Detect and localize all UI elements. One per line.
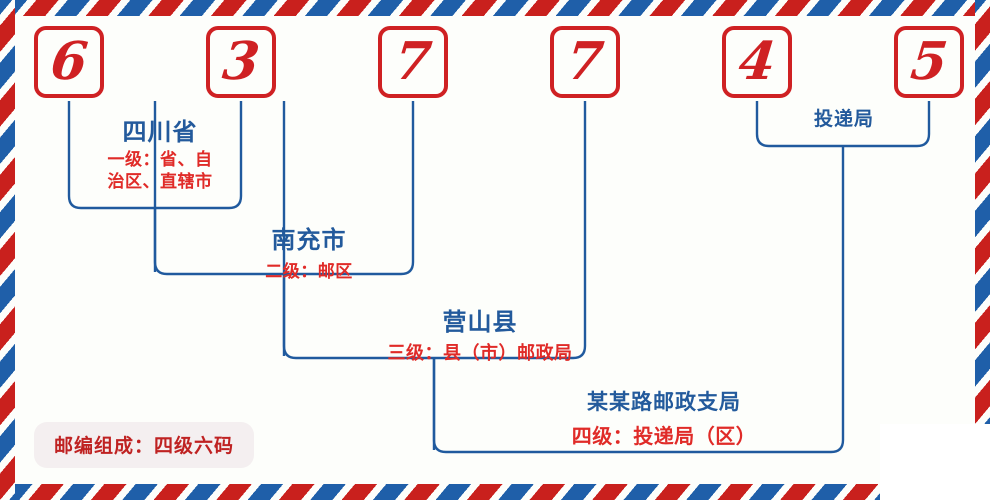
digit-glyph: 3 — [220, 36, 262, 88]
level-3-label: 营山县 三级：县（市）邮政局 — [300, 302, 660, 365]
level-2-label: 南充市 二级：邮区 — [186, 220, 432, 282]
digit-glyph: 7 — [392, 36, 434, 88]
level-1-desc-line-2: 治区、直辖市 — [72, 171, 248, 193]
level-1-name: 四川省 — [72, 112, 248, 147]
postcode-digit-3[interactable]: 7 — [378, 26, 448, 98]
screenshot-canvas: 6 3 7 7 4 5 四川省 一级：省、自 治区、直辖市 南充市 二级：邮区 … — [0, 0, 1000, 500]
delivery-branch-label: 投递局 — [742, 104, 946, 131]
postcode-digit-6[interactable]: 5 — [894, 26, 964, 98]
footnote-chip: 邮编组成：四级六码 — [34, 422, 254, 468]
digit-glyph: 7 — [564, 36, 606, 88]
level-4-desc: 四级：投递局（区） — [470, 420, 858, 449]
delivery-branch-name: 投递局 — [742, 104, 946, 131]
level-1-desc: 一级：省、自 治区、直辖市 — [72, 149, 248, 194]
level-4-name: 某某路邮政支局 — [470, 386, 858, 416]
postcode-digit-4[interactable]: 7 — [550, 26, 620, 98]
level-3-name: 营山县 — [300, 302, 660, 337]
digit-glyph: 4 — [736, 36, 778, 88]
digit-glyph: 5 — [908, 36, 950, 88]
postcode-digit-5[interactable]: 4 — [722, 26, 792, 98]
level-3-desc: 三级：县（市）邮政局 — [300, 339, 660, 365]
level-4-label: 某某路邮政支局 四级：投递局（区） — [470, 386, 858, 449]
postcode-digit-1[interactable]: 6 — [34, 26, 104, 98]
level-2-name: 南充市 — [186, 220, 432, 255]
level-1-desc-line-1: 一级：省、自 — [72, 149, 248, 171]
postcode-digit-2[interactable]: 3 — [206, 26, 276, 98]
level-2-desc: 二级：邮区 — [186, 257, 432, 282]
digit-glyph: 6 — [48, 36, 90, 88]
level-1-label: 四川省 一级：省、自 治区、直辖市 — [72, 112, 248, 194]
